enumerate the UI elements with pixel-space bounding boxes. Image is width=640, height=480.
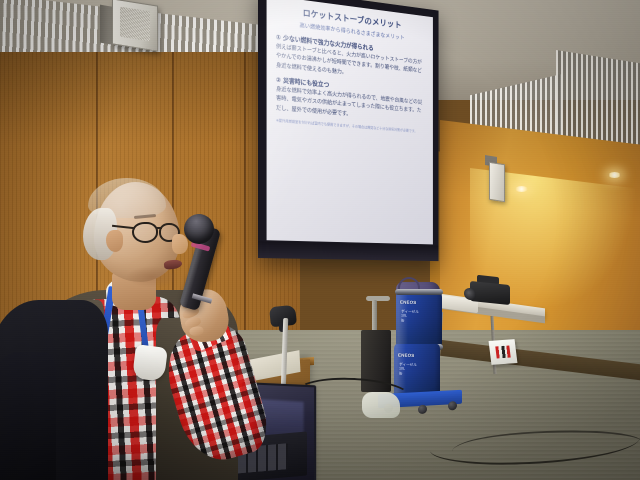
glasses-lens-left <box>132 222 158 243</box>
audience-silhouette-secondary <box>0 352 56 480</box>
glasses-bridge <box>156 227 162 229</box>
drum-rim-top <box>395 289 443 295</box>
wall-speaker-right <box>489 162 505 203</box>
finger <box>189 326 204 337</box>
drum-sub-label: ディーゼル 10L 缶 <box>399 363 437 377</box>
presentation-slide: ロケットストーブのメリット 高い燃焼効率から得られるさまざまなメリット ① 少な… <box>267 0 433 244</box>
video-camera <box>470 281 510 305</box>
floor-placard <box>489 339 518 365</box>
lecture-hall-photo: ロケットストーブのメリット 高い燃焼効率から得られるさまざまなメリット ① 少な… <box>0 0 640 480</box>
dolly-handle-top <box>366 296 390 301</box>
downlight <box>608 172 621 178</box>
drum-brand-label: ENEOS <box>398 353 436 359</box>
screen-surface: ロケットストーブのメリット 高い燃焼効率から得られるさまざまなメリット ① 少な… <box>267 0 433 244</box>
presenter-ear <box>106 230 123 252</box>
stove-drum-upper: ENEOS ディーゼル 10L 缶 <box>396 292 442 348</box>
drum-sub-label: ディーゼル 10L 缶 <box>401 310 439 324</box>
downlight <box>515 186 528 192</box>
camera-lens <box>464 287 476 300</box>
presenter-mouth <box>164 259 183 270</box>
placard-graphic <box>495 346 510 359</box>
drum-brand-label: ENEOS <box>400 300 438 306</box>
ceiling-speaker-left <box>112 0 158 52</box>
speaker-grill <box>120 7 150 42</box>
